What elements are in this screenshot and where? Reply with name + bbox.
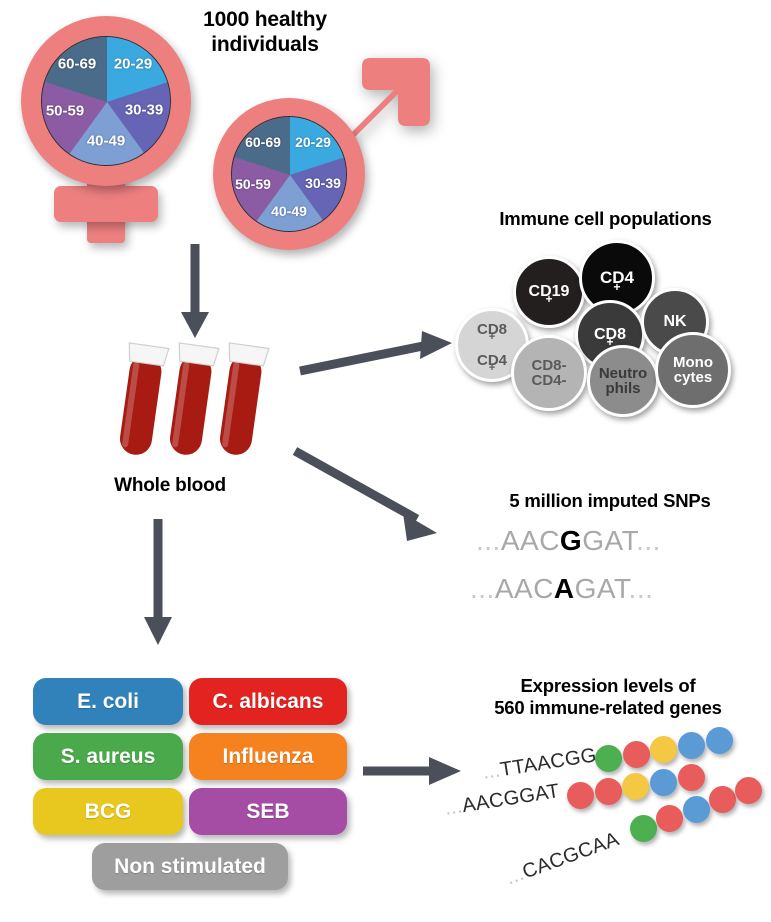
immune-cell-label: CD19+: [529, 284, 570, 300]
expression-title-line1: Expression levels of: [445, 675, 771, 697]
snp-post: GAT: [575, 573, 629, 604]
male-pie-label-60-69: 60-69: [245, 134, 281, 150]
expression-sequence-text: ...CACGCAA: [503, 828, 622, 890]
snp-prefix: ...: [476, 525, 501, 556]
snp-sequences: ...AACGGAT......AACAGAT...: [470, 525, 760, 620]
sequence-lead: ...: [443, 795, 464, 819]
immune-cell-label: Monocytes: [673, 355, 713, 386]
female-pie-label-40-49: 40-49: [87, 133, 125, 150]
stimulus-box-e-coli[interactable]: E. coli: [33, 678, 183, 725]
snp-post: GAT: [582, 525, 636, 556]
expression-title: Expression levels of 560 immune-related …: [445, 675, 771, 719]
immune-cell-cd19[interactable]: CD19+: [513, 256, 585, 328]
immune-cell-label: CD4+: [600, 269, 634, 286]
immune-title: Immune cell populations: [440, 208, 771, 230]
stimulus-box-c-albicans[interactable]: C. albicans: [189, 678, 347, 725]
stimulus-label: E. coli: [77, 690, 139, 714]
immune-cell-monocytes[interactable]: Monocytes: [655, 332, 731, 408]
stimulus-label: SEB: [246, 800, 289, 824]
stimulus-label: BCG: [85, 800, 132, 824]
stimulus-box-bcg[interactable]: BCG: [33, 788, 183, 835]
stimulus-label: Influenza: [222, 745, 313, 769]
snp-prefix: ...: [470, 573, 495, 604]
blood-tubes-svg: [105, 333, 295, 473]
stimulus-label: S. aureus: [61, 745, 156, 769]
immune-cell-neutrophils[interactable]: Neutrophils: [587, 345, 659, 417]
arrow-blood-to-immune: [300, 325, 460, 385]
female-pie-label-20-29: 20-29: [114, 56, 152, 73]
female-pie-label-50-59: 50-59: [46, 103, 84, 120]
snp-pre: AAC: [501, 525, 560, 556]
stimulus-label: Non stimulated: [114, 855, 266, 879]
stimulus-label: C. albicans: [213, 690, 324, 714]
expression-chain: ...CACGCAA: [465, 740, 771, 910]
snp-pre: AAC: [495, 573, 554, 604]
stimulus-box-non-stimulated[interactable]: Non stimulated: [92, 843, 288, 890]
arrow-blood-to-snps: [295, 445, 460, 555]
snp-title: 5 million imputed SNPs: [450, 490, 770, 512]
figure-canvas: 1000 healthy individuals 60-69 20-29 30-…: [0, 0, 771, 922]
male-pie-label-50-59: 50-59: [235, 176, 271, 192]
expression-bead: [630, 815, 657, 842]
expression-bead: [656, 805, 683, 832]
immune-cell-label: CD8+CD4+: [477, 322, 507, 368]
stimuli-group: E. coliC. albicansS. aureusInfluenzaBCGS…: [33, 678, 353, 898]
stimulus-box-influenza[interactable]: Influenza: [189, 733, 347, 780]
expression-bead: [735, 777, 762, 804]
immune-cell-label: CD8+: [594, 327, 626, 343]
arrow-blood-to-stimuli: [139, 515, 179, 655]
female-crossbar: [54, 186, 158, 222]
expression-chains: ...TTAACGG...AACGGAT...CACGCAA: [465, 740, 771, 910]
snp-suffix: ...: [636, 525, 661, 556]
blood-tube: [114, 343, 169, 457]
expression-bead: [709, 786, 736, 813]
female-symbol: 60-69 20-29 30-39 40-49 50-59: [8, 8, 208, 248]
snp-variant: G: [560, 525, 582, 556]
blood-tubes: [105, 333, 295, 473]
whole-blood-label: Whole blood: [60, 475, 280, 497]
arrow-stimuli-to-expression: [363, 750, 473, 794]
male-pie-label-30-39: 30-39: [305, 175, 341, 191]
expression-title-line2: 560 immune-related genes: [445, 697, 771, 719]
snp-variant: A: [554, 573, 575, 604]
female-pie-label-60-69: 60-69: [58, 56, 96, 73]
expression-bead: [683, 796, 710, 823]
immune-cell-label: CD8-CD4-: [531, 358, 566, 389]
blood-tube: [164, 343, 219, 457]
male-pie-label-40-49: 40-49: [271, 203, 307, 219]
snp-sequence-row: ...AACGGAT...: [476, 525, 661, 557]
snp-suffix: ...: [629, 573, 654, 604]
immune-cell-label: Neutrophils: [599, 366, 647, 397]
immune-cell-group: CD8+CD4+CD19+CD4+CD8+NKCD8-CD4-Neutrophi…: [455, 240, 755, 415]
blood-tube: [214, 343, 269, 457]
immune-cell-cd8-cd4[interactable]: CD8-CD4-: [511, 335, 587, 411]
sequence-lead: ...: [503, 863, 527, 890]
male-pie-label-20-29: 20-29: [295, 134, 331, 150]
immune-cell-label: NK: [663, 314, 686, 330]
snp-sequence-row: ...AACAGAT...: [470, 573, 653, 605]
stimulus-box-seb[interactable]: SEB: [189, 788, 347, 835]
female-pie-label-30-39: 30-39: [125, 102, 163, 119]
male-symbol: 60-69 20-29 30-39 40-49 50-59: [205, 70, 435, 250]
stimulus-box-s-aureus[interactable]: S. aureus: [33, 733, 183, 780]
